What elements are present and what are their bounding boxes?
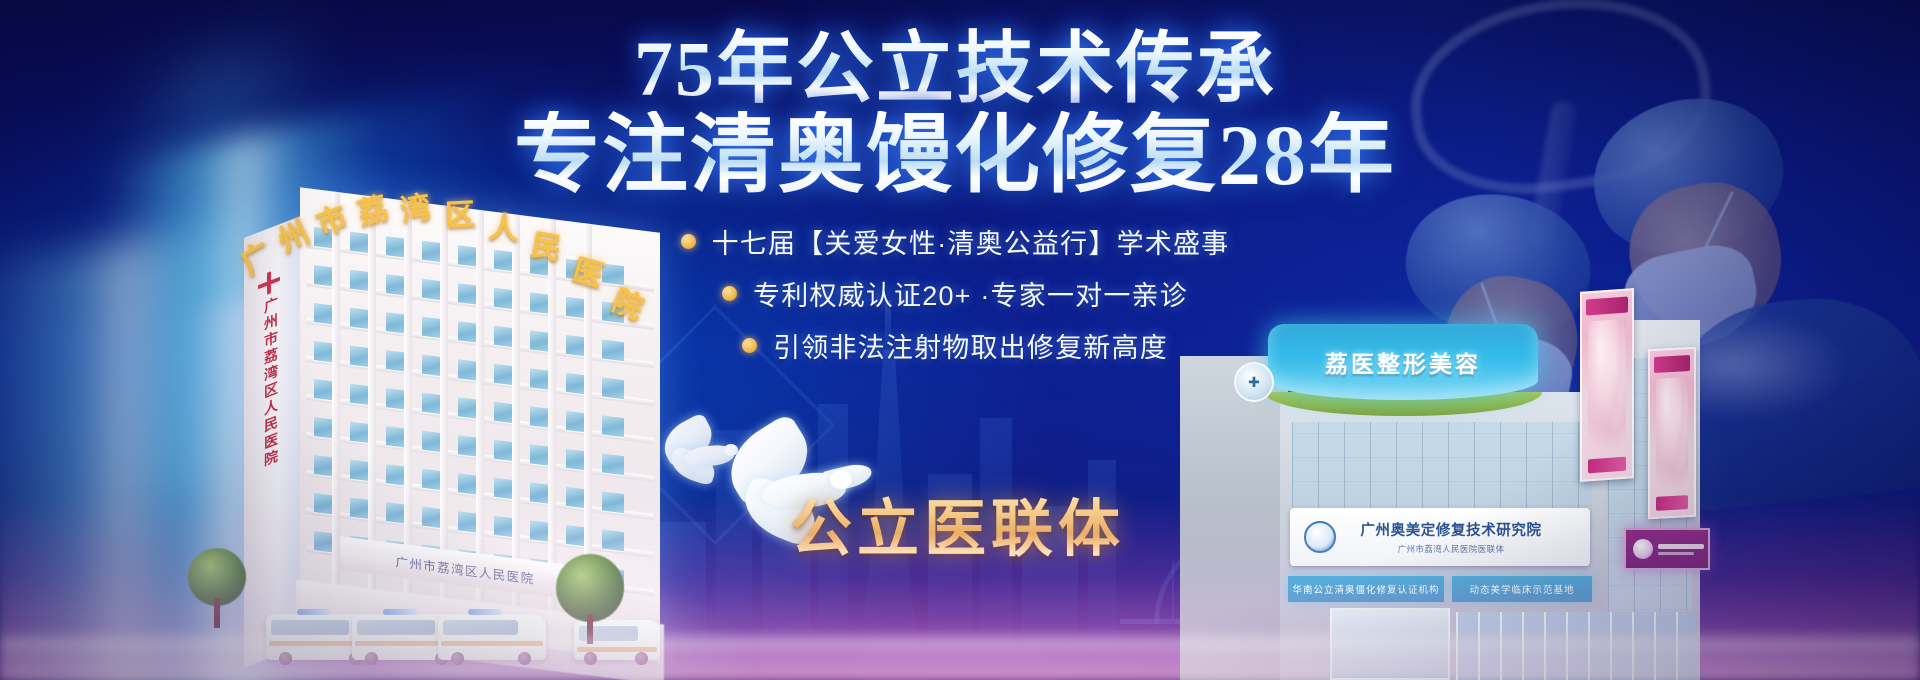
headline-line-2: 专注清奥馒化修复28年 [430, 111, 1480, 200]
bottom-highlight-line [0, 636, 1920, 652]
bullet-item-2-text: 专利权威认证20+ ·专家一对一亲诊 [753, 274, 1188, 313]
bullet-item-1: 十七届【关爱女性·清奥公益行】学术盛事 [430, 222, 1480, 261]
headline-line-1: 75年公立技术传承 [430, 28, 1480, 109]
bullet-dot-icon [742, 338, 757, 353]
promotional-banner: 广州市荔湾区人民医院 广 州 市 荔 湾 区 人 民 医 院 广 州 市 荔 湾… [0, 0, 1920, 680]
headline-block: 75年公立技术传承 专注清奥馒化修复28年 [430, 28, 1480, 201]
bullet-item-2: 专利权威认证20+ ·专家一对一亲诊 [430, 274, 1480, 313]
bullet-list: 十七届【关爱女性·清奥公益行】学术盛事 专利权威认证20+ ·专家一对一亲诊 引… [430, 222, 1480, 378]
bullet-dot-icon [681, 234, 696, 249]
bullet-item-3: 引领非法注射物取出修复新高度 [430, 326, 1480, 365]
bullet-dot-icon [722, 286, 737, 301]
bullet-item-1-text: 十七届【关爱女性·清奥公益行】学术盛事 [712, 222, 1230, 261]
bullet-item-3-text: 引领非法注射物取出修复新高度 [773, 326, 1168, 365]
